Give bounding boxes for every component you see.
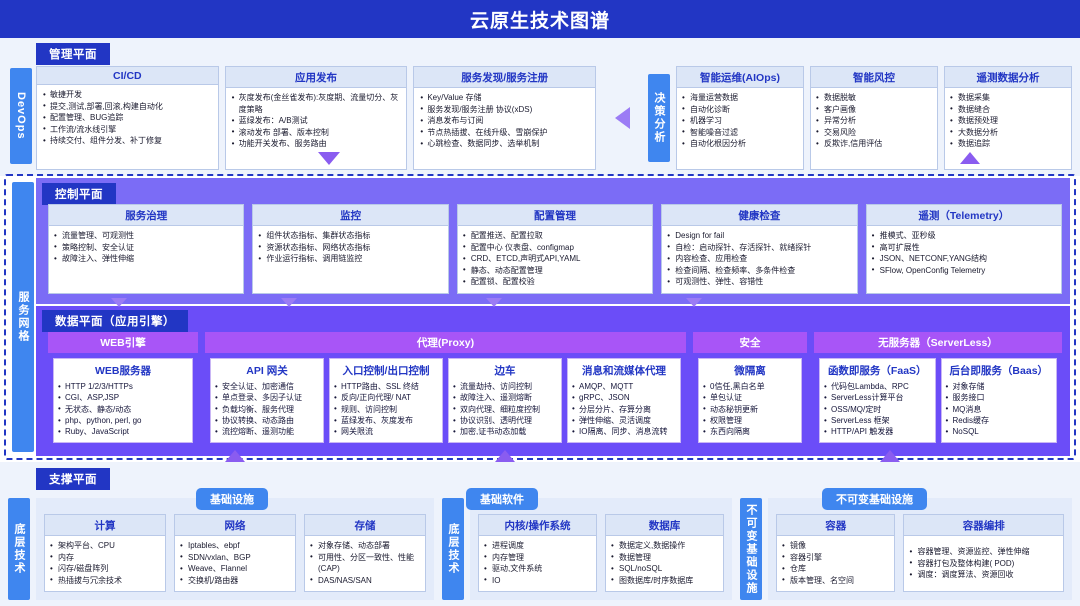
arrow-down-icon — [686, 298, 702, 307]
card-title: 容器编排 — [904, 515, 1063, 536]
card-api-gateway: API 网关 安全认证、加密通信 单点登录、多因子认证 负载均衡、服务代理 协议… — [210, 358, 324, 443]
card-title: 遥测（Telemetry） — [867, 205, 1061, 226]
list-item: 服务发现/服务注册 协议(xDS) — [419, 104, 590, 116]
card-items: 数据定义,数据操作 数据管理 SQL/noSQL 图数据库/时序数据库 — [606, 536, 723, 591]
card-items: 容器管理、资源监控、弹性伸缩 容器打包及整体构建( POD) 调度：调度算法、资… — [904, 536, 1063, 591]
card-title: 后台即服务（Baas） — [946, 363, 1053, 378]
list-item: CGI、ASP,JSP — [58, 392, 188, 403]
arrow-left-icon — [602, 66, 642, 170]
card-health-check: 健康检查 Design for fail 自检：启动探针、存活探针、就绪探针 内… — [661, 204, 857, 294]
list-item: 大数据分析 — [950, 127, 1066, 139]
card-items: HTTP 1/2/3/HTTPs CGI、ASP,JSP 无状态、静态/动态 p… — [58, 381, 188, 438]
management-plane: 管理平面 DevOps CI/CD 敏捷开发 提交,测试,部署,回滚,构建自动化… — [0, 38, 1080, 176]
list-item: 镜像 — [782, 540, 889, 552]
list-item: SFlow, OpenConfig Telemetry — [872, 265, 1056, 277]
list-item: 滚动发布 部署、版本控制 — [231, 127, 402, 139]
list-item: HTTP 1/2/3/HTTPs — [58, 381, 188, 392]
card-service-governance: 服务治理 流量管理、可观测性 策略控制、安全认证 故障注入、弹性伸缩 — [48, 204, 244, 294]
analytics-card-group: 智能运维(AIOps) 海量运营数据 自动化诊断 机器学习 智能噪音过滤 自动化… — [676, 66, 1072, 170]
group-serverless: 无服务器（ServerLess） 函数即服务（FaaS） 代码包Lambda、R… — [814, 332, 1062, 448]
support-plane: 支撑平面 基础设施 基础软件 不可变基础设施 底层技术 计算 架构平台、CPU … — [0, 462, 1080, 606]
card-title: CI/CD — [37, 67, 218, 85]
list-item: 对象存储、动态部署 — [310, 540, 420, 552]
card-items: 流量管理、可观测性 策略控制、安全认证 故障注入、弹性伸缩 — [49, 226, 243, 293]
list-item: 配置中心 仪表盘、configmap — [463, 242, 647, 254]
group-web-engine: WEB引擎 WEB服务器 HTTP 1/2/3/HTTPs CGI、ASP,JS… — [48, 332, 198, 448]
card-items: 0信任,黑白名单 单包认证 动态秘钥更新 权限管理 东西向隔离 — [703, 381, 797, 438]
support-block-immutable-infra: 不可变基础设施 容器 镜像 容器引擎 仓库 版本管理、名空间 容器编排 容器管理… — [740, 498, 1072, 600]
list-item: Iptables、ebpf — [180, 540, 290, 552]
list-item: 流量管理、可观测性 — [54, 230, 238, 242]
list-item: 自检：启动探针、存活探针、就绪探针 — [667, 242, 851, 254]
list-item: 灰度发布(金丝雀发布):灰度期、流量切分、灰度策略 — [231, 92, 402, 115]
list-item: 对象存储 — [946, 381, 1053, 392]
list-item: 高可扩展性 — [872, 242, 1056, 254]
card-title: 监控 — [253, 205, 447, 226]
card-micro-segmentation: 微隔离 0信任,黑白名单 单包认证 动态秘钥更新 权限管理 东西向隔离 — [698, 358, 802, 443]
list-item: Redis缓存 — [946, 415, 1053, 426]
arrow-up-icon — [960, 152, 980, 164]
rail-immutable-infrastructure: 不可变基础设施 — [740, 498, 762, 600]
list-item: MQ消息 — [946, 404, 1053, 415]
list-item: 协议识别、透明代理 — [453, 415, 557, 426]
card-title: 服务治理 — [49, 205, 243, 226]
pill-basic-software: 基础软件 — [466, 488, 538, 510]
list-item: 弹性伸缩、灵活调度 — [572, 415, 676, 426]
list-item: SDN/vxlan、BGP — [180, 552, 290, 564]
pill-immutable-infrastructure: 不可变基础设施 — [822, 488, 927, 510]
list-item: 无状态、静态/动态 — [58, 404, 188, 415]
card-items: 推模式、亚秒级 高可扩展性 JSON、NETCONF,YANG结构 SFlow,… — [867, 226, 1061, 293]
card-compute: 计算 架构平台、CPU 内存 闪存/磁盘阵列 热插拔与冗余技术 — [44, 514, 166, 592]
list-item: 推模式、亚秒级 — [872, 230, 1056, 242]
arrow-down-icon — [281, 298, 297, 307]
list-item: 数据追踪 — [950, 138, 1066, 150]
list-item: 客户画像 — [816, 104, 932, 116]
list-item: 自动化诊断 — [682, 104, 798, 116]
rail-devops: DevOps — [10, 68, 32, 164]
list-item: ServerLess 框架 — [824, 415, 931, 426]
card-title: 网络 — [175, 515, 295, 536]
card-title: WEB服务器 — [58, 363, 188, 378]
card-baas: 后台即服务（Baas） 对象存储 服务接口 MQ消息 Redis缓存 NoSQL — [941, 358, 1058, 443]
support-block-basic-software: 底层技术 内核/操作系统 进程调度 内存管理 驱动,文件系统 IO 数据库 数据… — [442, 498, 732, 600]
card-items: 海量运营数据 自动化诊断 机器学习 智能噪音过滤 自动化根因分析 — [677, 88, 803, 169]
list-item: 数据脱敏 — [816, 92, 932, 104]
list-item: 机器学习 — [682, 115, 798, 127]
card-network: 网络 Iptables、ebpf SDN/vxlan、BGP Weave、Fla… — [174, 514, 296, 592]
list-item: 蓝绿发布：A/B测试 — [231, 115, 402, 127]
list-item: ServerLess计算平台 — [824, 392, 931, 403]
service-mesh-boundary: 服务网格 控制平面 服务治理 流量管理、可观测性 策略控制、安全认证 故障注入、… — [4, 174, 1076, 460]
card-title: 容器 — [777, 515, 894, 536]
list-item: 内存 — [50, 552, 160, 564]
list-item: 可观测性、弹性、容错性 — [667, 276, 851, 288]
group-title: 无服务器（ServerLess） — [814, 332, 1062, 353]
card-title: 消息和流媒体代理 — [572, 363, 676, 378]
list-item: 网关限流 — [334, 426, 438, 437]
list-item: 东西向隔离 — [703, 426, 797, 437]
card-items: 进程调度 内存管理 驱动,文件系统 IO — [479, 536, 596, 591]
list-item: 配置管理、BUG追踪 — [42, 112, 213, 124]
support-plane-tag: 支撑平面 — [36, 468, 110, 490]
list-item: IO — [484, 575, 591, 587]
list-item: 心跳检查、数据同步、选举机制 — [419, 138, 590, 150]
arrow-up-icon — [225, 450, 245, 462]
group-proxy: 代理(Proxy) API 网关 安全认证、加密通信 单点登录、多因子认证 负载… — [205, 332, 686, 448]
pill-infrastructure: 基础设施 — [196, 488, 268, 510]
list-item: 0信任,黑白名单 — [703, 381, 797, 392]
list-item: NoSQL — [946, 426, 1053, 437]
data-plane-tag: 数据平面（应用引擎） — [42, 310, 188, 332]
card-items: 架构平台、CPU 内存 闪存/磁盘阵列 热插拔与冗余技术 — [45, 536, 165, 591]
list-item: 作业运行指标、调用链监控 — [258, 253, 442, 265]
page-title: 云原生技术图谱 — [0, 0, 1080, 38]
list-item: 代码包Lambda、RPC — [824, 381, 931, 392]
list-item: 数据定义,数据操作 — [611, 540, 718, 552]
list-item: 配置推送、配置拉取 — [463, 230, 647, 242]
card-items: 配置推送、配置拉取 配置中心 仪表盘、configmap CRD、ETCD,声明… — [458, 226, 652, 293]
list-item: 调度：调度算法、资源回收 — [909, 569, 1058, 581]
list-item: 流量劫持、访问控制 — [453, 381, 557, 392]
list-item: 节点热插拔、在线升级、雪崩保护 — [419, 127, 590, 139]
list-item: 数据采集 — [950, 92, 1066, 104]
rail-decision-analysis: 决策分析 — [648, 74, 670, 162]
control-plane-tag: 控制平面 — [42, 183, 116, 205]
list-item: 故障注入、弹性伸缩 — [54, 253, 238, 265]
card-title: 函数即服务（FaaS） — [824, 363, 931, 378]
card-title: 应用发布 — [226, 67, 407, 88]
list-item: AMQP、MQTT — [572, 381, 676, 392]
list-item: 交换机/路由器 — [180, 575, 290, 587]
data-plane: 数据平面（应用引擎） WEB引擎 WEB服务器 HTTP 1/2/3/HTTPs… — [36, 306, 1070, 456]
list-item: 规则、访问控制 — [334, 404, 438, 415]
card-telemetry: 遥测（Telemetry） 推模式、亚秒级 高可扩展性 JSON、NETCONF… — [866, 204, 1062, 294]
card-title: 数据库 — [606, 515, 723, 536]
list-item: 提交,测试,部署,回滚,构建自动化 — [42, 101, 213, 113]
card-title: 智能风控 — [811, 67, 937, 88]
card-title: 存储 — [305, 515, 425, 536]
list-item: Design for fail — [667, 230, 851, 242]
card-title: 边车 — [453, 363, 557, 378]
list-item: DAS/NAS/SAN — [310, 575, 420, 587]
card-cicd: CI/CD 敏捷开发 提交,测试,部署,回滚,构建自动化 配置管理、BUG追踪 … — [36, 66, 219, 170]
card-faas: 函数即服务（FaaS） 代码包Lambda、RPC ServerLess计算平台… — [819, 358, 936, 443]
list-item: 检查间隔、检查频率、多条件检查 — [667, 265, 851, 277]
card-title: 计算 — [45, 515, 165, 536]
list-item: 单点登录、多因子认证 — [215, 392, 319, 403]
list-item: 可用性、分区一致性、性能(CAP) — [310, 552, 420, 575]
card-items: 数据脱敏 客户画像 异常分析 交易风险 反欺诈,信用评估 — [811, 88, 937, 169]
list-item: CRD、ETCD,声明式API,YAML — [463, 253, 647, 265]
list-item: SQL/noSQL — [611, 563, 718, 575]
arrow-up-icon — [495, 450, 515, 462]
list-item: 驱动,文件系统 — [484, 563, 591, 575]
card-title: 微隔离 — [703, 363, 797, 378]
list-item: 自动化根因分析 — [682, 138, 798, 150]
list-item: 反欺诈,信用评估 — [816, 138, 932, 150]
card-title: 智能运维(AIOps) — [677, 67, 803, 88]
list-item: 流控熔断、遥测功能 — [215, 426, 319, 437]
list-item: 内存管理 — [484, 552, 591, 564]
arrow-up-icon — [880, 450, 900, 462]
card-title: 遥测数据分析 — [945, 67, 1071, 88]
card-aiops: 智能运维(AIOps) 海量运营数据 自动化诊断 机器学习 智能噪音过滤 自动化… — [676, 66, 804, 170]
card-message-stream-proxy: 消息和流媒体代理 AMQP、MQTT gRPC、JSON 分层分片、存算分离 弹… — [567, 358, 681, 443]
card-items: 敏捷开发 提交,测试,部署,回滚,构建自动化 配置管理、BUG追踪 工作流/流水… — [37, 85, 218, 169]
list-item: 组件状态指标、集群状态指标 — [258, 230, 442, 242]
card-items: 灰度发布(金丝雀发布):灰度期、流量切分、灰度策略 蓝绿发布：A/B测试 滚动发… — [226, 88, 407, 169]
card-items: 组件状态指标、集群状态指标 资源状态指标、网络状态指标 作业运行指标、调用链监控 — [253, 226, 447, 293]
list-item: HTTP路由、SSL 终结 — [334, 381, 438, 392]
list-item: gRPC、JSON — [572, 392, 676, 403]
card-items: 镜像 容器引擎 仓库 版本管理、名空间 — [777, 536, 894, 591]
card-title: 配置管理 — [458, 205, 652, 226]
card-risk-control: 智能风控 数据脱敏 客户画像 异常分析 交易风险 反欺诈,信用评估 — [810, 66, 938, 170]
rail-underlying-tech: 底层技术 — [8, 498, 30, 600]
card-items: AMQP、MQTT gRPC、JSON 分层分片、存算分离 弹性伸缩、灵活调度 … — [572, 381, 676, 438]
card-items: Key/Value 存储 服务发现/服务注册 协议(xDS) 消息发布与订阅 节… — [414, 88, 595, 169]
support-block-infrastructure: 底层技术 计算 架构平台、CPU 内存 闪存/磁盘阵列 热插拔与冗余技术 网络 … — [8, 498, 434, 600]
list-item: 负载均衡、服务代理 — [215, 404, 319, 415]
list-item: 静态、动态配置管理 — [463, 265, 647, 277]
card-config-management: 配置管理 配置推送、配置拉取 配置中心 仪表盘、configmap CRD、ET… — [457, 204, 653, 294]
list-item: 协议转换、动态路由 — [215, 415, 319, 426]
list-item: HTTP/API 触发器 — [824, 426, 931, 437]
list-item: 热插拔与冗余技术 — [50, 575, 160, 587]
card-items: Iptables、ebpf SDN/vxlan、BGP Weave、Flanne… — [175, 536, 295, 591]
list-item: 图数据库/时序数据库 — [611, 575, 718, 587]
list-item: 资源状态指标、网络状态指标 — [258, 242, 442, 254]
list-item: 反向/正向代理/ NAT — [334, 392, 438, 403]
list-item: 交易风险 — [816, 127, 932, 139]
arrow-down-icon — [111, 298, 127, 307]
card-ingress-egress: 入口控制/出口控制 HTTP路由、SSL 终结 反向/正向代理/ NAT 规则、… — [329, 358, 443, 443]
list-item: 持续交付、组件分发、补丁修复 — [42, 135, 213, 147]
list-item: 单包认证 — [703, 392, 797, 403]
list-item: 容器管理、资源监控、弹性伸缩 — [909, 546, 1058, 558]
card-title: 内核/操作系统 — [479, 515, 596, 536]
list-item: Weave、Flannel — [180, 563, 290, 575]
list-item: 功能开关发布、服务路由 — [231, 138, 402, 150]
list-item: 数据预处理 — [950, 115, 1066, 127]
card-web-server: WEB服务器 HTTP 1/2/3/HTTPs CGI、ASP,JSP 无状态、… — [53, 358, 193, 443]
list-item: 版本管理、名空间 — [782, 575, 889, 587]
card-monitoring: 监控 组件状态指标、集群状态指标 资源状态指标、网络状态指标 作业运行指标、调用… — [252, 204, 448, 294]
list-item: 工作流/流水线引擎 — [42, 124, 213, 136]
group-title: 安全 — [693, 332, 807, 353]
list-item: 消息发布与订阅 — [419, 115, 590, 127]
list-item: 容器打包及整体构建( POD) — [909, 558, 1058, 570]
management-plane-tag: 管理平面 — [36, 43, 110, 65]
group-title: 代理(Proxy) — [205, 332, 686, 353]
group-title: WEB引擎 — [48, 332, 198, 353]
list-item: 进程调度 — [484, 540, 591, 552]
control-plane: 控制平面 服务治理 流量管理、可观测性 策略控制、安全认证 故障注入、弹性伸缩 … — [36, 178, 1070, 304]
arrow-down-icon — [318, 152, 340, 165]
card-database: 数据库 数据定义,数据操作 数据管理 SQL/noSQL 图数据库/时序数据库 — [605, 514, 724, 592]
page-title-text: 云原生技术图谱 — [470, 6, 610, 33]
list-item: 海量运营数据 — [682, 92, 798, 104]
list-item: Ruby、JavaScript — [58, 426, 188, 437]
card-storage: 存储 对象存储、动态部署 可用性、分区一致性、性能(CAP) DAS/NAS/S… — [304, 514, 426, 592]
card-items: 流量劫持、访问控制 故障注入、遥测熔断 双向代理、细粒度控制 协议识别、透明代理… — [453, 381, 557, 438]
list-item: 加密,证书动态加载 — [453, 426, 557, 437]
devops-card-group: CI/CD 敏捷开发 提交,测试,部署,回滚,构建自动化 配置管理、BUG追踪 … — [36, 66, 596, 170]
list-item: 服务接口 — [946, 392, 1053, 403]
group-security: 安全 微隔离 0信任,黑白名单 单包认证 动态秘钥更新 权限管理 东西向隔离 — [693, 332, 807, 448]
card-items: 安全认证、加密通信 单点登录、多因子认证 负载均衡、服务代理 协议转换、动态路由… — [215, 381, 319, 438]
card-items: 对象存储、动态部署 可用性、分区一致性、性能(CAP) DAS/NAS/SAN — [305, 536, 425, 591]
list-item: php、python, perl, go — [58, 415, 188, 426]
list-item: 数据管理 — [611, 552, 718, 564]
card-container-orchestration: 容器编排 容器管理、资源监控、弹性伸缩 容器打包及整体构建( POD) 调度：调… — [903, 514, 1064, 592]
card-title: API 网关 — [215, 363, 319, 378]
card-items: HTTP路由、SSL 终结 反向/正向代理/ NAT 规则、访问控制 蓝绿发布、… — [334, 381, 438, 438]
list-item: 智能噪音过滤 — [682, 127, 798, 139]
list-item: 仓库 — [782, 563, 889, 575]
list-item: OSS/MQ/定时 — [824, 404, 931, 415]
list-item: 安全认证、加密通信 — [215, 381, 319, 392]
card-sidecar: 边车 流量劫持、访问控制 故障注入、遥测熔断 双向代理、细粒度控制 协议识别、透… — [448, 358, 562, 443]
list-item: 分层分片、存算分离 — [572, 404, 676, 415]
list-item: 容器引擎 — [782, 552, 889, 564]
card-title: 入口控制/出口控制 — [334, 363, 438, 378]
arrow-down-icon — [486, 298, 502, 307]
list-item: 权限管理 — [703, 415, 797, 426]
card-items: Design for fail 自检：启动探针、存活探针、就绪探针 内容检查、应… — [662, 226, 856, 293]
card-service-discovery: 服务发现/服务注册 Key/Value 存储 服务发现/服务注册 协议(xDS)… — [413, 66, 596, 170]
list-item: IO隔离、同步、消息流转 — [572, 426, 676, 437]
rail-service-mesh: 服务网格 — [12, 182, 34, 452]
list-item: 双向代理、细粒度控制 — [453, 404, 557, 415]
list-item: 故障注入、遥测熔断 — [453, 392, 557, 403]
card-items: 对象存储 服务接口 MQ消息 Redis缓存 NoSQL — [946, 381, 1053, 438]
card-kernel-os: 内核/操作系统 进程调度 内存管理 驱动,文件系统 IO — [478, 514, 597, 592]
card-title: 健康检查 — [662, 205, 856, 226]
list-item: 架构平台、CPU — [50, 540, 160, 552]
list-item: 闪存/磁盘阵列 — [50, 563, 160, 575]
list-item: 异常分析 — [816, 115, 932, 127]
list-item: 动态秘钥更新 — [703, 404, 797, 415]
rail-underlying-tech: 底层技术 — [442, 498, 464, 600]
list-item: 数据缝合 — [950, 104, 1066, 116]
card-title: 服务发现/服务注册 — [414, 67, 595, 88]
list-item: 蓝绿发布、灰度发布 — [334, 415, 438, 426]
card-items: 代码包Lambda、RPC ServerLess计算平台 OSS/MQ/定时 S… — [824, 381, 931, 438]
list-item: Key/Value 存储 — [419, 92, 590, 104]
list-item: 敏捷开发 — [42, 89, 213, 101]
card-container: 容器 镜像 容器引擎 仓库 版本管理、名空间 — [776, 514, 895, 592]
list-item: 配置锁、配置校验 — [463, 276, 647, 288]
list-item: JSON、NETCONF,YANG结构 — [872, 253, 1056, 265]
list-item: 内容检查、应用检查 — [667, 253, 851, 265]
list-item: 策略控制、安全认证 — [54, 242, 238, 254]
card-app-release: 应用发布 灰度发布(金丝雀发布):灰度期、流量切分、灰度策略 蓝绿发布：A/B测… — [225, 66, 408, 170]
